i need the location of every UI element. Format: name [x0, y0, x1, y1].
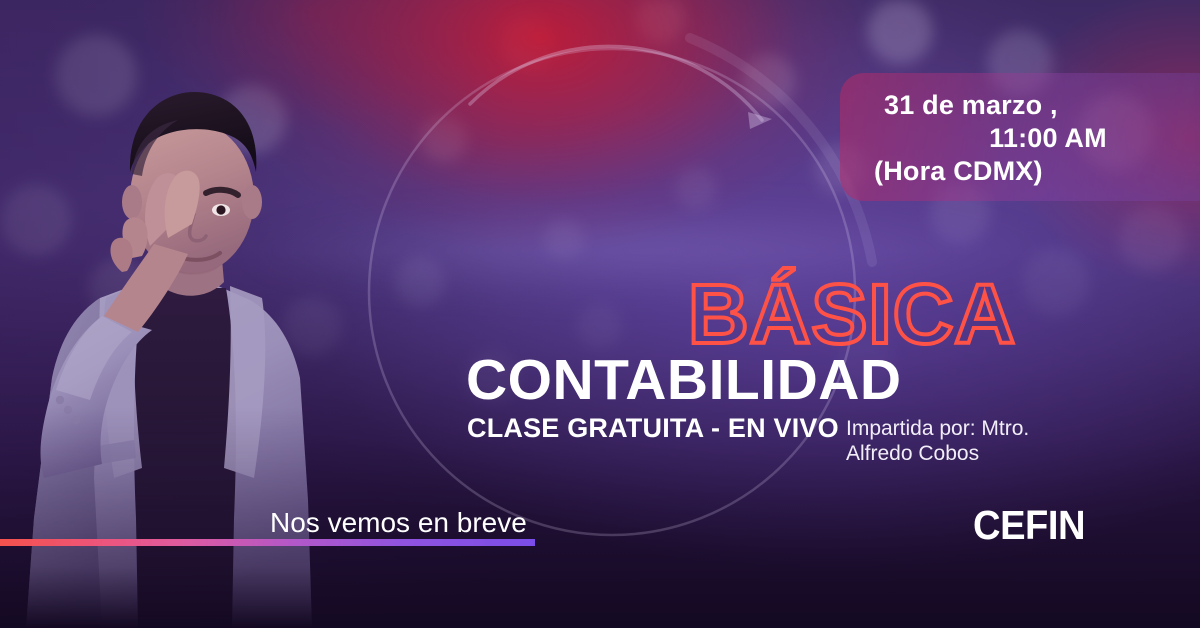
- headline-subtitle: CLASE GRATUITA - EN VIVO: [467, 415, 839, 442]
- gradient-accent-bar: [0, 539, 535, 546]
- presenter-credit-line1: Impartida por: Mtro.: [846, 416, 1029, 441]
- headline-main-word: CONTABILIDAD: [466, 352, 902, 409]
- closing-tagline: Nos vemos en breve: [270, 507, 527, 539]
- brand-logo: CEFIN: [973, 503, 1085, 547]
- presenter-credit-line2: Alfredo Cobos: [846, 441, 1029, 466]
- headline-outline-word: BÁSICA: [688, 272, 1016, 356]
- promo-banner: 31 de marzo , 11:00 AM (Hora CDMX) BÁSIC…: [0, 0, 1200, 628]
- presenter-credit: Impartida por: Mtro. Alfredo Cobos: [846, 416, 1029, 466]
